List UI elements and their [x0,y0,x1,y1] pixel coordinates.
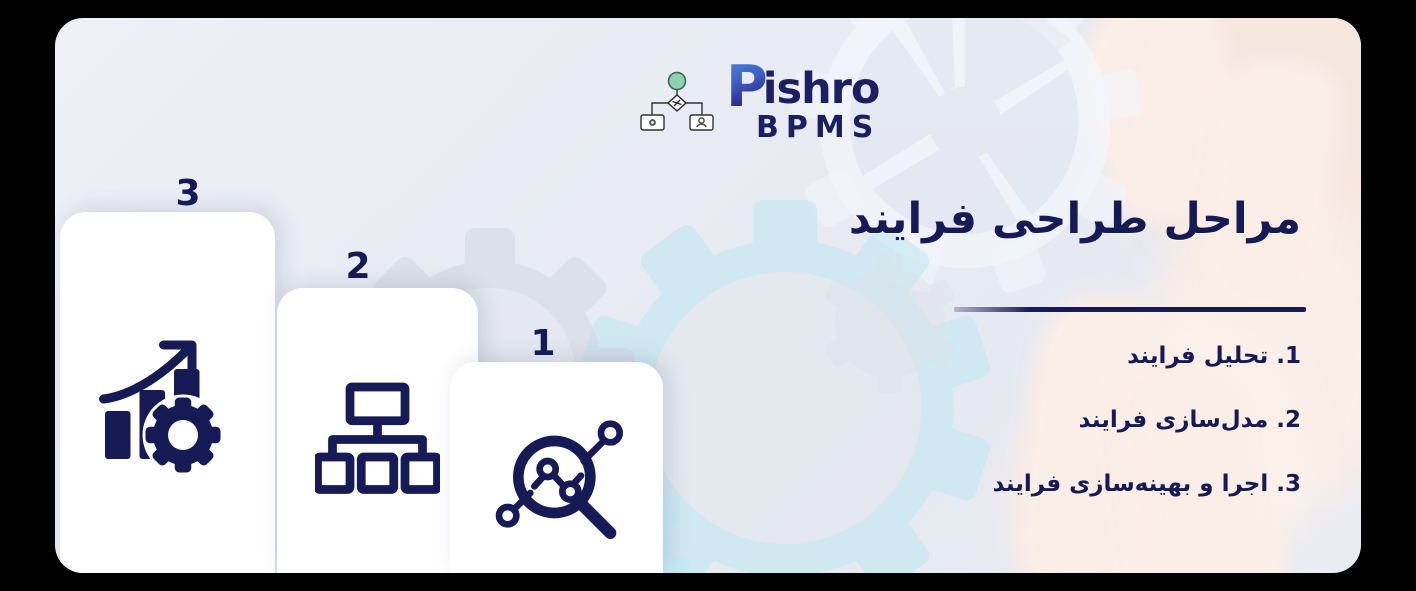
step-card-2[interactable] [277,288,478,573]
list-item: 1. تحلیل فرایند [681,343,1301,369]
list-item: 3. اجرا و بهینه‌سازی فرایند [681,471,1301,497]
growth-chart-gear-icon [93,327,243,477]
card-number-2: 2 [328,246,388,287]
logo-name-main: ishro [763,68,880,111]
title-divider [954,307,1306,312]
poster-frame: Pishro BPMS مراحل طراحی فرایند 1. تحلیل … [0,0,1416,591]
brand-logo: Pishro BPMS [638,58,873,146]
org-chart-icon [315,382,440,497]
bpmn-flow-icon [638,71,716,133]
step-card-3[interactable] [60,212,275,573]
page-title: مراحل طراحی فرایند [701,194,1301,244]
logo-wordmark: Pishro [726,63,880,111]
step-card-1[interactable] [450,362,663,573]
card-number-3: 3 [158,173,218,214]
magnifier-network-icon [487,413,627,541]
card-number-1: 1 [513,323,573,364]
list-item: 2. مدل‌سازی فرایند [681,407,1301,433]
logo-subname: BPMS [756,113,880,143]
steps-list: 1. تحلیل فرایند 2. مدل‌سازی فرایند 3. اج… [681,343,1301,497]
poster-panel: Pishro BPMS مراحل طراحی فرایند 1. تحلیل … [55,18,1361,573]
logo-p-glyph: P [726,63,767,111]
